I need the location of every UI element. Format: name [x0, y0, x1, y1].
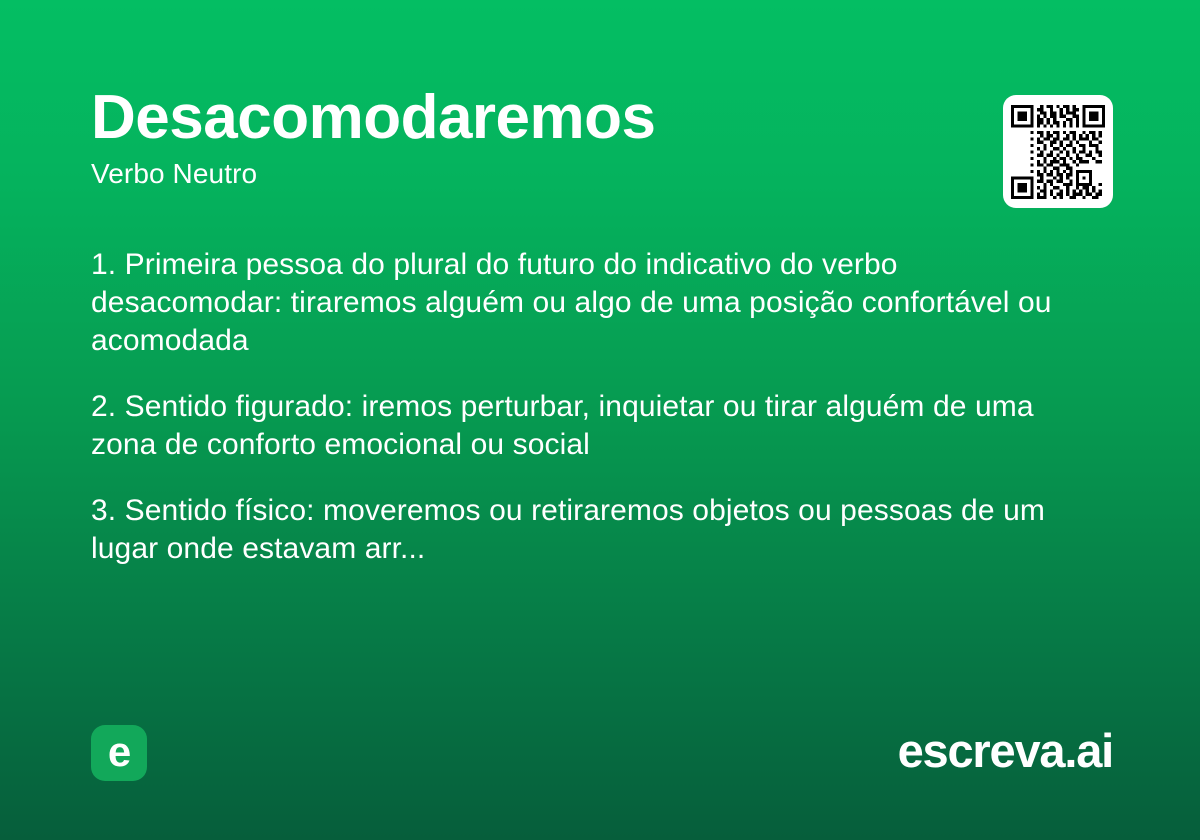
- card-footer: e escreva.ai: [0, 714, 1200, 794]
- brand-logo-letter: e: [108, 731, 130, 773]
- definition-item: 2. Sentido figurado: iremos perturbar, i…: [91, 388, 1096, 464]
- qr-code-card[interactable]: [1003, 95, 1113, 208]
- word-class-label: Verbo Neutro: [91, 158, 971, 190]
- dictionary-card: Desacomodaremos Verbo Neutro: [0, 0, 1200, 840]
- page-title: Desacomodaremos: [91, 86, 971, 150]
- qr-code-icon: [1011, 105, 1105, 199]
- brand-wordmark: escreva.ai: [898, 722, 1113, 780]
- card-header: Desacomodaremos Verbo Neutro: [91, 86, 971, 190]
- definition-item: 1. Primeira pessoa do plural do futuro d…: [91, 246, 1096, 360]
- brand-logo: e: [91, 725, 147, 781]
- definitions-list: 1. Primeira pessoa do plural do futuro d…: [91, 246, 1096, 568]
- definition-item: 3. Sentido físico: moveremos ou retirare…: [91, 492, 1096, 568]
